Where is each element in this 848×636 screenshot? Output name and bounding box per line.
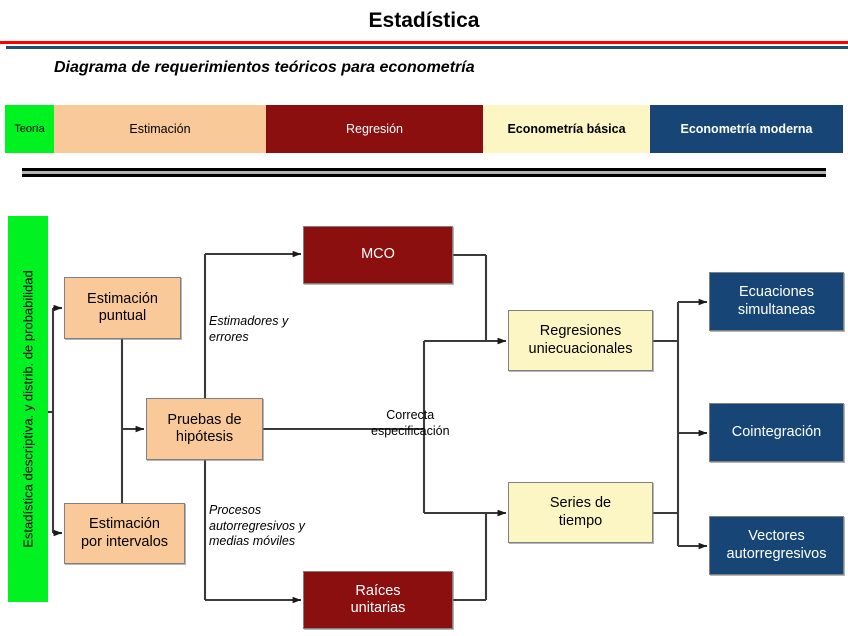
sidebar-statistics-band: Estadística descriptiva. y distrib. de p… — [8, 216, 48, 602]
edge-label-correcta-especificacion: Correcta especificación — [371, 408, 450, 439]
edge-label-estimadores-y-errores: Estimadores y errores — [209, 314, 288, 345]
edge-label-procesos-autorregresivos: Procesos autorregresivos y medias móvile… — [209, 503, 305, 550]
band-segment-teoria: Teoría — [5, 105, 54, 153]
band-segment-econometria-basica: Econometría básica — [483, 105, 650, 153]
sidebar-label: Estadística descriptiva. y distrib. de p… — [21, 270, 36, 547]
header-rule-blue — [6, 46, 848, 49]
section-divider — [22, 168, 826, 177]
band-segment-econometria-moderna: Econometría moderna — [650, 105, 843, 153]
node-estimacion-puntual[interactable]: Estimación puntual — [64, 277, 181, 339]
diagram-subtitle: Diagrama de requerimientos teóricos para… — [54, 59, 475, 77]
node-regresiones-uniecuacionales[interactable]: Regresiones uniecuacionales — [508, 310, 653, 371]
node-vectores-autorregresivos[interactable]: Vectores autorregresivos — [709, 516, 844, 575]
node-ecuaciones-simultaneas[interactable]: Ecuaciones simultaneas — [709, 272, 844, 331]
header-rule-red — [0, 41, 848, 44]
band-segment-regresion: Regresión — [266, 105, 483, 153]
band-segment-estimacion: Estimación — [54, 105, 266, 153]
slide-canvas: Estadística Diagrama de requerimientos t… — [0, 0, 848, 636]
page-title: Estadística — [0, 9, 848, 33]
node-estimacion-por-intervalos[interactable]: Estimación por intervalos — [64, 503, 185, 564]
node-mco[interactable]: MCO — [303, 226, 453, 284]
node-raices-unitarias[interactable]: Raíces unitarias — [303, 571, 453, 629]
node-pruebas-hipotesis[interactable]: Pruebas de hipótesis — [146, 398, 263, 460]
node-series-de-tiempo[interactable]: Series de tiempo — [508, 482, 653, 543]
node-cointegracion[interactable]: Cointegración — [709, 403, 844, 462]
